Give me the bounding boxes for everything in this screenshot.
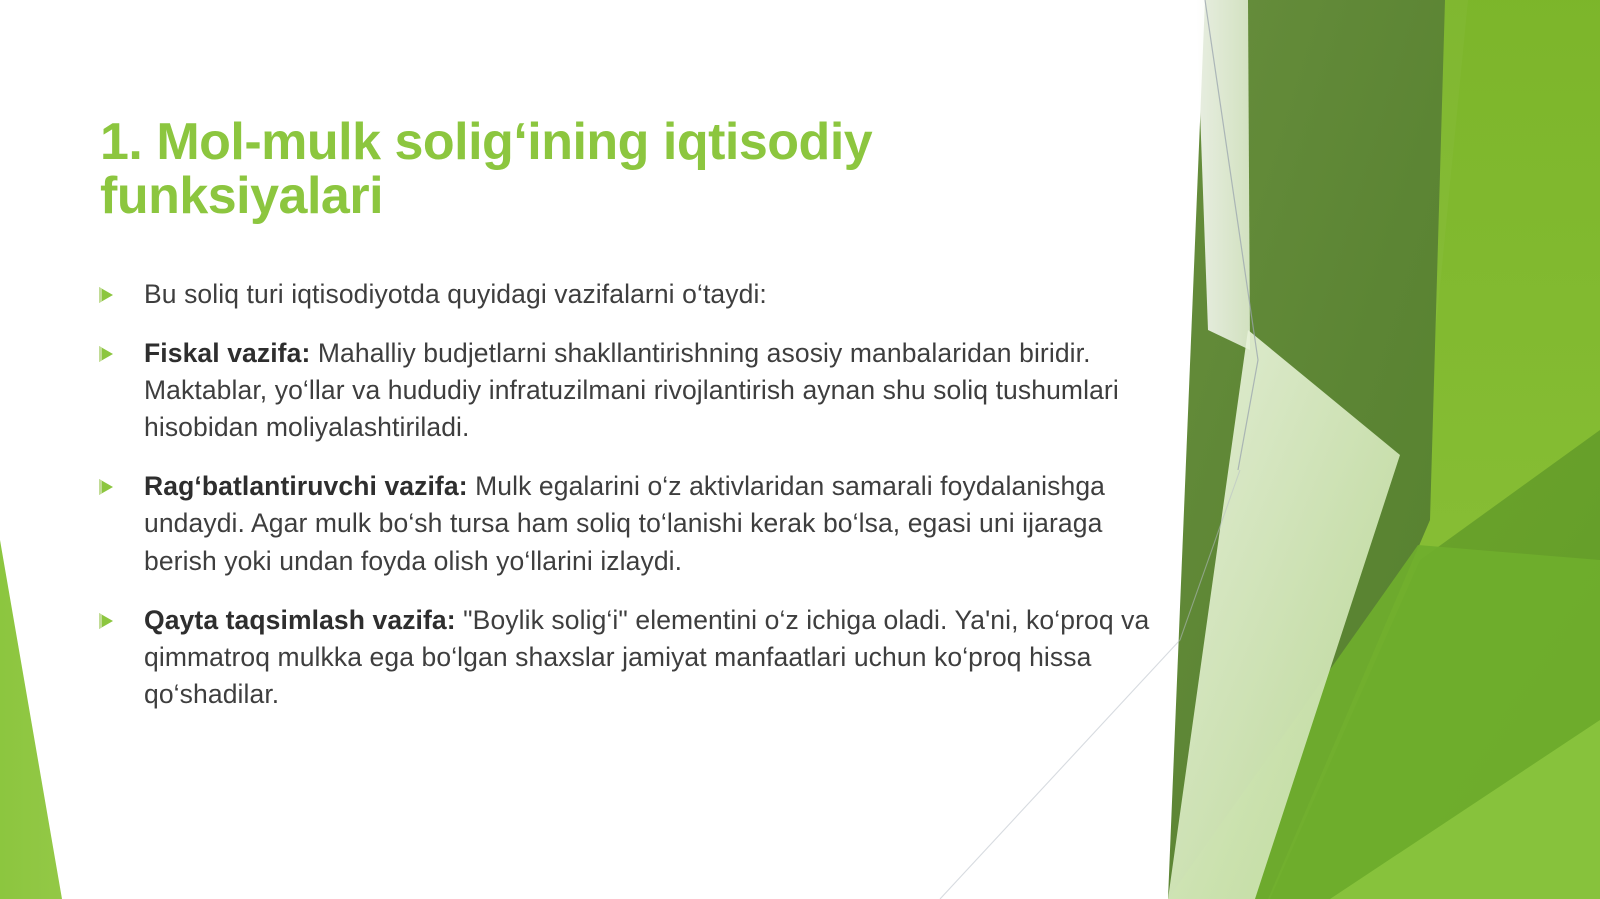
list-item-text: Qayta taqsimlash vazifa: "Boylik solig‘i… — [144, 602, 1181, 713]
triangle-right-bullet-icon — [96, 602, 144, 631]
list-item-text: Bu soliq turi iqtisodiyotda quyidagi vaz… — [144, 276, 1181, 313]
list-item: Rag‘batlantiruvchi vazifa: Mulk egalarin… — [96, 468, 1181, 579]
hairline-diagonal-upper — [1205, 0, 1258, 470]
shape-green-diagonal-lower — [1168, 545, 1600, 899]
shape-left-bottom-triangle — [0, 540, 62, 899]
list-item-body: Bu soliq turi iqtisodiyotda quyidagi vaz… — [144, 279, 767, 309]
list-item: Qayta taqsimlash vazifa: "Boylik solig‘i… — [96, 602, 1181, 713]
triangle-right-bullet-icon — [96, 276, 144, 305]
list-item-lead: Rag‘batlantiruvchi vazifa: — [144, 471, 468, 501]
triangle-right-bullet-icon — [96, 335, 144, 364]
list-item-lead: Fiskal vazifa: — [144, 338, 310, 368]
shape-dark-olive-wedge — [1168, 0, 1445, 899]
shape-mid-green-lower — [1270, 430, 1600, 899]
triangle-right-bullet-icon — [96, 468, 144, 497]
shape-bright-green-band — [1205, 0, 1600, 899]
slide-canvas: 1. Mol-mulk solig‘ining iqtisodiy funksi… — [0, 0, 1600, 899]
shape-bright-bottom-corner — [1330, 720, 1600, 899]
shape-pale-green-wedge — [1168, 330, 1400, 899]
shape-lime-far-right — [1380, 0, 1600, 899]
list-item-text: Fiskal vazifa: Mahalliy budjetlarni shak… — [144, 335, 1181, 446]
list-item: Fiskal vazifa: Mahalliy budjetlarni shak… — [96, 335, 1181, 446]
list-item-text: Rag‘batlantiruvchi vazifa: Mulk egalarin… — [144, 468, 1181, 579]
bullet-list: Bu soliq turi iqtisodiyotda quyidagi vaz… — [96, 276, 1181, 735]
list-item-lead: Qayta taqsimlash vazifa: — [144, 605, 456, 635]
shape-pale-feather-top — [1196, 0, 1250, 350]
list-item: Bu soliq turi iqtisodiyotda quyidagi vaz… — [96, 276, 1181, 313]
slide-title: 1. Mol-mulk solig‘ining iqtisodiy funksi… — [100, 115, 1000, 223]
